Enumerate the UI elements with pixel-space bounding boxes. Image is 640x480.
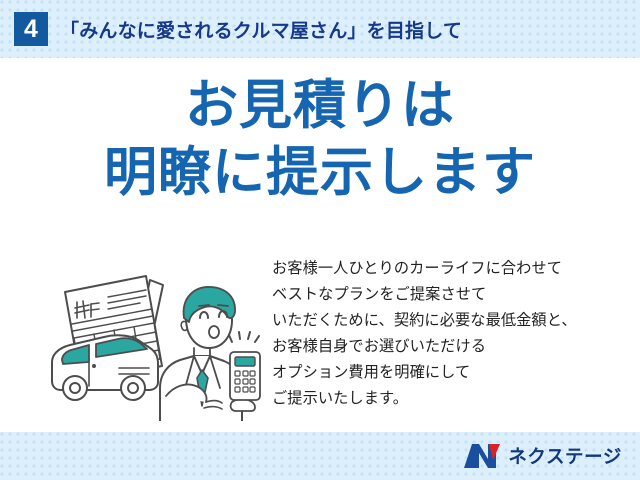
promo-banner: 4 「みんなに愛されるクルマ屋さん」を目指して お見積りは 明瞭に提示します xyxy=(0,0,640,480)
body-copy-line: オプション費用を明確にして xyxy=(272,360,632,386)
banner-main: お見積りは 明瞭に提示します xyxy=(0,58,640,432)
body-copy-line: いただくために、契約に必要な最低金額と、 xyxy=(272,308,632,334)
nextage-n-logo-icon xyxy=(463,443,501,469)
brand-logo-text: ネクステージ xyxy=(508,443,622,469)
header-title: 「みんなに愛されるクルマ屋さん」を目指して xyxy=(60,0,462,58)
body-copy-line: お客様自身でお選びいただける xyxy=(272,334,632,360)
calculator-device xyxy=(230,352,260,400)
illustration-svg xyxy=(34,256,264,421)
sparkle-icon xyxy=(229,332,259,342)
headline-line-2: 明瞭に提示します xyxy=(0,143,640,202)
step-number-text: 4 xyxy=(24,17,38,42)
illustration xyxy=(34,256,264,421)
body-copy: お客様一人ひとりのカーライフに合わせて ベストなプランをご提案させて いただくた… xyxy=(272,256,632,412)
body-copy-line: ご提示いたします。 xyxy=(272,386,632,412)
banner-footer: ネクステージ xyxy=(0,432,640,480)
brand-logo: ネクステージ xyxy=(463,432,622,480)
headline: お見積りは 明瞭に提示します xyxy=(0,76,640,203)
headline-line-1: お見積りは xyxy=(0,76,640,135)
minivan-car xyxy=(52,335,158,400)
body-copy-line: ベストなプランをご提案させて xyxy=(272,282,632,308)
step-number-badge: 4 xyxy=(14,12,48,46)
banner-header: 4 「みんなに愛されるクルマ屋さん」を目指して xyxy=(0,0,640,58)
body-copy-line: お客様一人ひとりのカーライフに合わせて xyxy=(272,256,632,282)
